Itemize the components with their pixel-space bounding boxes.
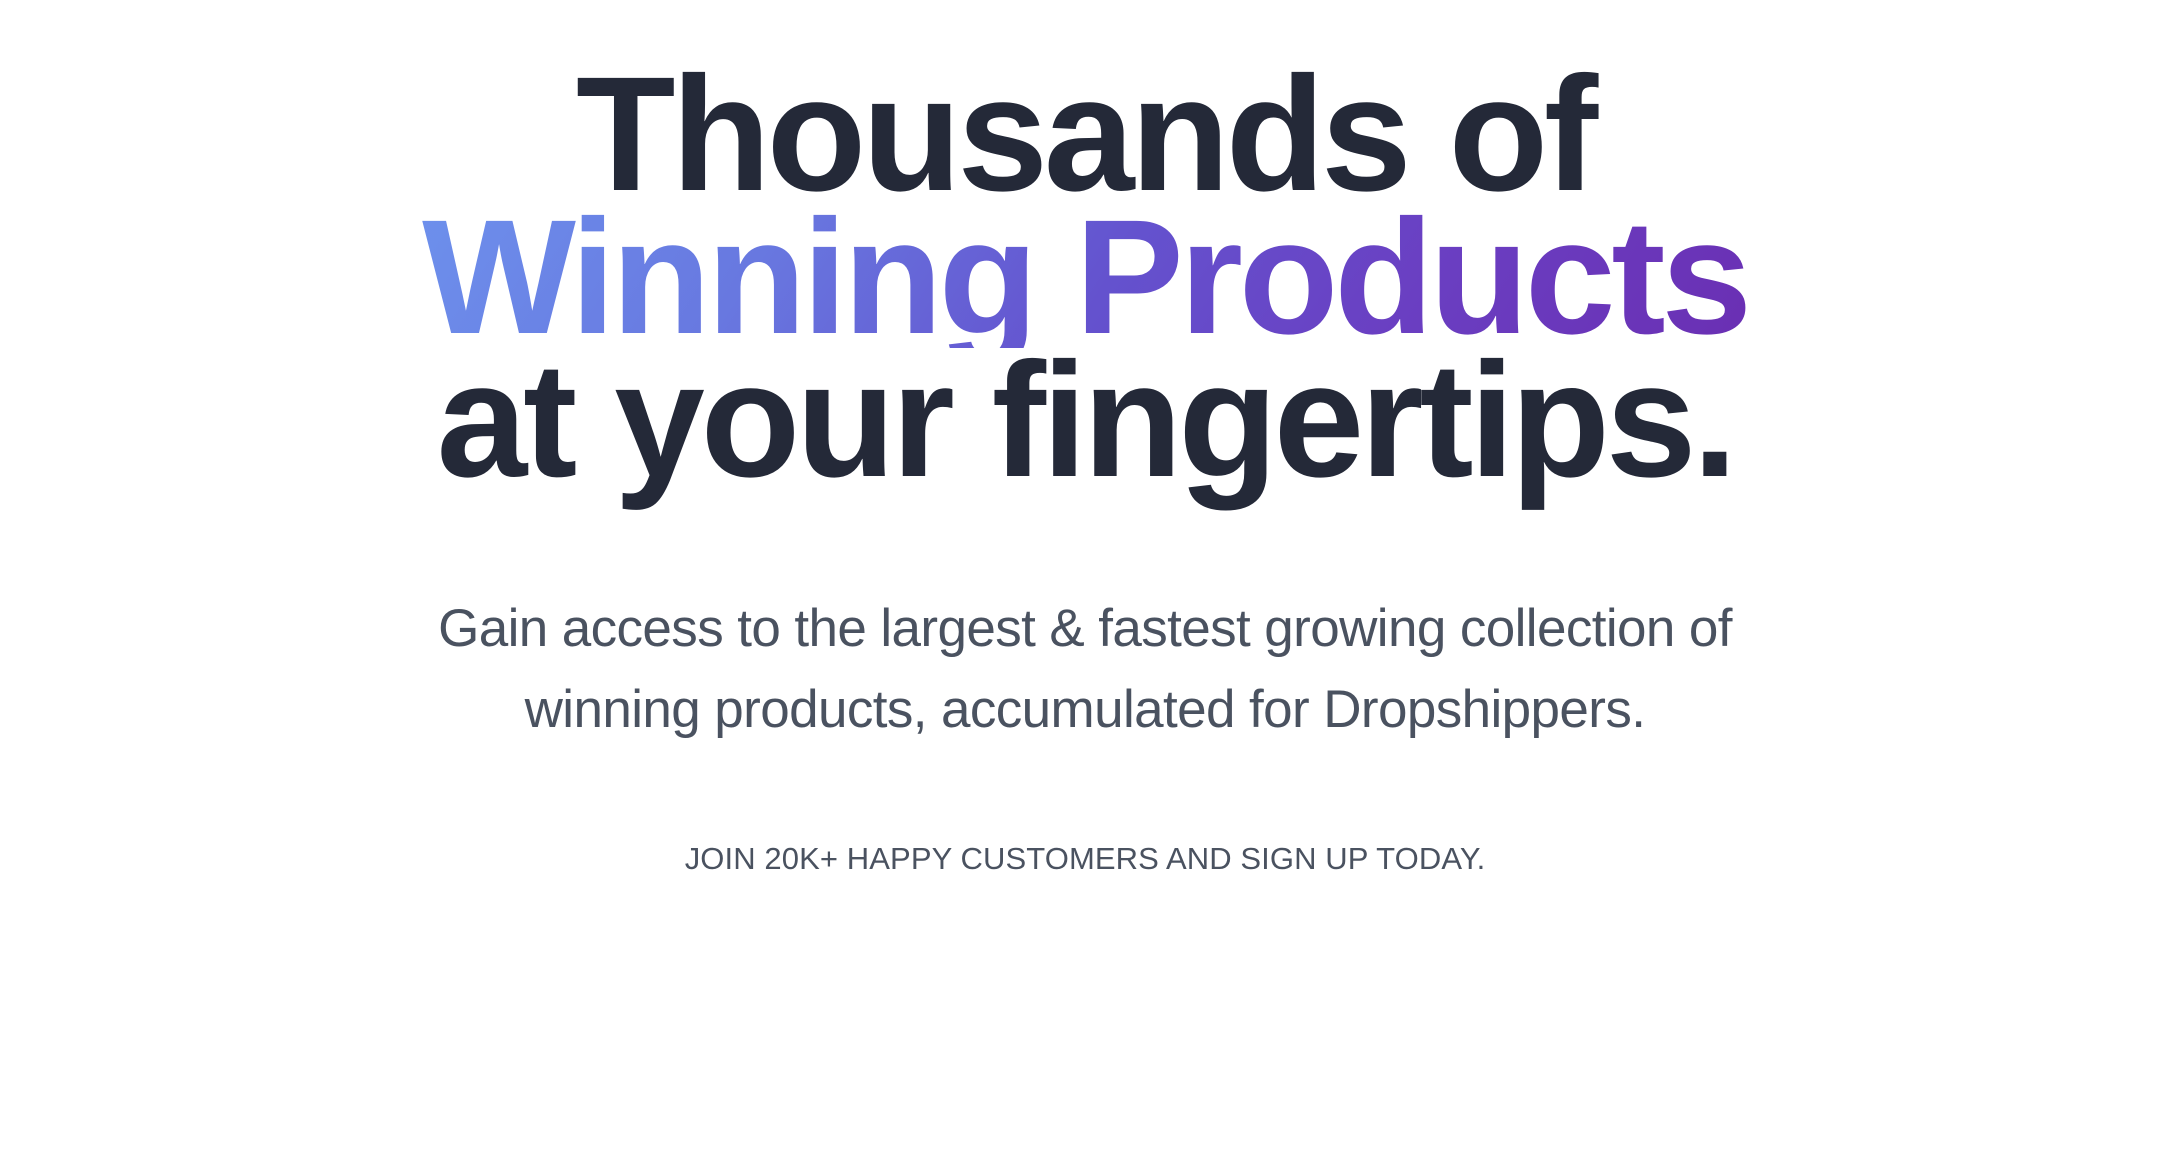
heading-subtitle-spacer (1085, 491, 1086, 588)
hero-subtitle: Gain access to the largest & fastest gro… (438, 588, 1732, 750)
subtitle-caption-spacer (1085, 750, 1086, 840)
headline-line-2-gradient: Winning Products (422, 205, 1748, 348)
headline-line-3: at your fingertips. (422, 348, 1748, 491)
subtitle-line-2: winning products, accumulated for Dropsh… (438, 669, 1732, 750)
page-title: Thousands of Winning Products at your fi… (422, 62, 1748, 491)
hero-caption: JOIN 20K+ HAPPY CUSTOMERS AND SIGN UP TO… (685, 840, 1486, 878)
headline-line-1: Thousands of (422, 62, 1748, 205)
subtitle-line-1: Gain access to the largest & fastest gro… (438, 588, 1732, 669)
hero-section: Thousands of Winning Products at your fi… (0, 0, 2170, 1154)
